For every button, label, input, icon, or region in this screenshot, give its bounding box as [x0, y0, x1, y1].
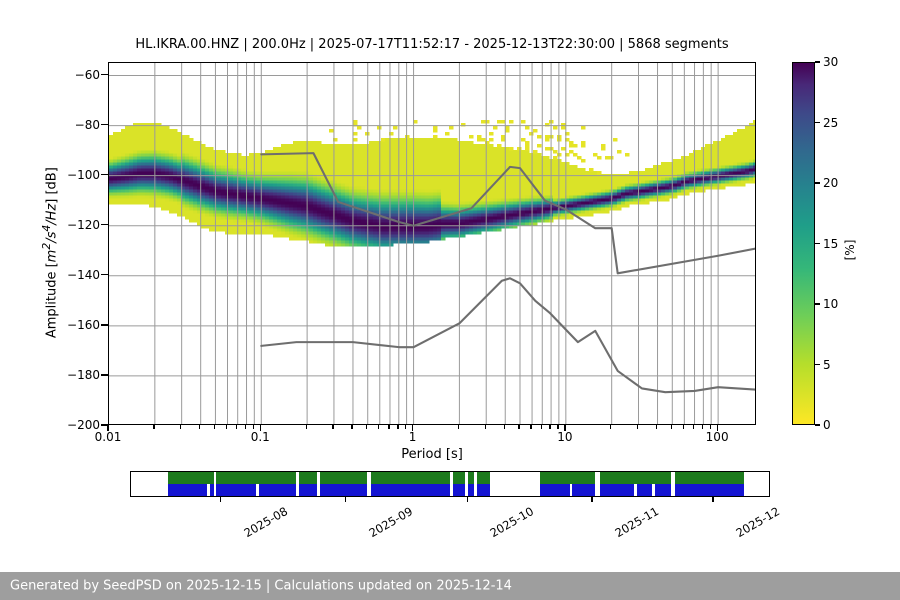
x-tick-minor	[541, 425, 542, 429]
x-tick-minor	[366, 425, 367, 429]
x-tick-minor	[693, 425, 694, 429]
x-tick-minor	[236, 425, 237, 429]
coverage-segment-upper	[477, 472, 490, 484]
timeline-tick	[345, 497, 346, 502]
y-tick-mark	[101, 374, 108, 375]
timeline-tick	[467, 497, 468, 502]
y-tick-label: −160	[46, 318, 100, 332]
colorbar-tick-label: 5	[823, 358, 831, 372]
colorbar-tick	[815, 303, 820, 304]
x-tick-minor	[153, 425, 154, 429]
coverage-segment-lower	[299, 484, 317, 496]
x-tick-label: 0.1	[251, 430, 270, 444]
coverage-segment-upper	[168, 472, 214, 484]
coverage-segment-lower	[637, 484, 652, 496]
x-tick-minor	[199, 425, 200, 429]
coverage-segment-lower	[655, 484, 671, 496]
coverage-segment-lower	[320, 484, 367, 496]
x-tick-minor	[504, 425, 505, 429]
timeline-tick-label: 2025-12	[733, 504, 782, 540]
y-tick-mark	[101, 224, 108, 225]
y-tick-label: −200	[46, 418, 100, 432]
y-tick-mark	[101, 124, 108, 125]
coverage-segment-lower	[572, 484, 595, 496]
colorbar-tick-label: 20	[823, 176, 838, 190]
timeline-tick	[220, 497, 221, 502]
x-tick-minor	[378, 425, 379, 429]
colorbar-tick-label: 25	[823, 116, 838, 130]
coverage-segment-upper	[320, 472, 367, 484]
x-tick-minor	[332, 425, 333, 429]
timeline-tick	[591, 497, 592, 502]
x-tick-label: 10	[557, 430, 572, 444]
coverage-segment-upper	[468, 472, 474, 484]
x-tick-minor	[253, 425, 254, 429]
x-tick-minor	[245, 425, 246, 429]
x-tick-label: 100	[706, 430, 729, 444]
x-tick-minor	[702, 425, 703, 429]
coverage-segment-upper	[675, 472, 745, 484]
colorbar-label: [%]	[843, 220, 857, 280]
x-tick-minor	[485, 425, 486, 429]
coverage-segment-lower	[216, 484, 256, 496]
colorbar-tick-label: 15	[823, 237, 838, 251]
timeline-tick-label: 2025-11	[613, 504, 662, 540]
y-tick-label: −80	[46, 118, 100, 132]
coverage-segment-upper	[540, 472, 596, 484]
colorbar	[792, 62, 815, 425]
ppsd-figure: HL.IKRA.00.HNZ | 200.0Hz | 2025-07-17T11…	[0, 0, 900, 600]
y-tick-mark	[101, 74, 108, 75]
x-tick-minor	[226, 425, 227, 429]
coverage-segment-lower	[600, 484, 634, 496]
x-tick-minor	[710, 425, 711, 429]
x-tick-minor	[530, 425, 531, 429]
colorbar-tick	[815, 243, 820, 244]
y-tick-label: −60	[46, 68, 100, 82]
coverage-segment-upper	[453, 472, 465, 484]
x-tick-minor	[306, 425, 307, 429]
x-tick-minor	[557, 425, 558, 429]
x-tick-minor	[518, 425, 519, 429]
y-tick-label: −180	[46, 368, 100, 382]
colorbar-tick-label: 10	[823, 297, 838, 311]
page-title: HL.IKRA.00.HNZ | 200.0Hz | 2025-07-17T11…	[108, 37, 756, 52]
coverage-segment-lower	[477, 484, 490, 496]
coverage-segment-upper	[371, 472, 450, 484]
coverage-segment-upper	[299, 472, 317, 484]
x-tick-minor	[214, 425, 215, 429]
coverage-segment-lower	[453, 484, 465, 496]
x-tick-minor	[637, 425, 638, 429]
x-tick-minor	[458, 425, 459, 429]
colorbar-tick	[815, 364, 820, 365]
x-tick-minor	[549, 425, 550, 429]
colorbar-tick	[815, 61, 820, 62]
x-axis-label: Period [s]	[108, 447, 756, 462]
y-tick-label: −140	[46, 268, 100, 282]
coverage-segment-lower	[259, 484, 295, 496]
coverage-segment-lower	[371, 484, 450, 496]
psd-plot-area	[108, 62, 756, 425]
footer-bar: Generated by SeedPSD on 2025-12-15 | Cal…	[0, 572, 900, 600]
x-tick-minor	[388, 425, 389, 429]
coverage-segment-upper	[216, 472, 295, 484]
y-tick-label: −120	[46, 218, 100, 232]
coverage-segment-lower	[540, 484, 570, 496]
x-tick-minor	[671, 425, 672, 429]
coverage-segment-lower	[468, 484, 474, 496]
x-tick-minor	[656, 425, 657, 429]
colorbar-tick	[815, 122, 820, 123]
coverage-segment-upper	[600, 472, 671, 484]
x-tick-label: 1	[409, 430, 417, 444]
colorbar-tick	[815, 182, 820, 183]
timeline-tick-label: 2025-10	[488, 504, 537, 540]
x-tick-minor	[610, 425, 611, 429]
timeline-tick	[712, 497, 713, 502]
x-tick-minor	[180, 425, 181, 429]
x-tick-minor	[397, 425, 398, 429]
x-tick-minor	[683, 425, 684, 429]
timeline-tick-label: 2025-09	[366, 504, 415, 540]
x-tick-minor	[351, 425, 352, 429]
y-tick-mark	[101, 324, 108, 325]
data-coverage-bar	[130, 471, 770, 497]
footer-text: Generated by SeedPSD on 2025-12-15 | Cal…	[10, 579, 512, 594]
x-tick-label: 0.01	[95, 430, 122, 444]
coverage-segment-lower	[168, 484, 207, 496]
colorbar-tick-label: 0	[823, 418, 831, 432]
y-tick-mark	[101, 274, 108, 275]
colorbar-tick-label: 30	[823, 55, 838, 69]
y-tick-mark	[101, 174, 108, 175]
y-tick-label: −100	[46, 168, 100, 182]
colorbar-tick	[815, 424, 820, 425]
timeline-tick-label: 2025-08	[241, 504, 290, 540]
coverage-segment-lower	[210, 484, 214, 496]
noise-model-lines	[109, 63, 756, 425]
x-tick-minor	[405, 425, 406, 429]
coverage-segment-lower	[675, 484, 745, 496]
